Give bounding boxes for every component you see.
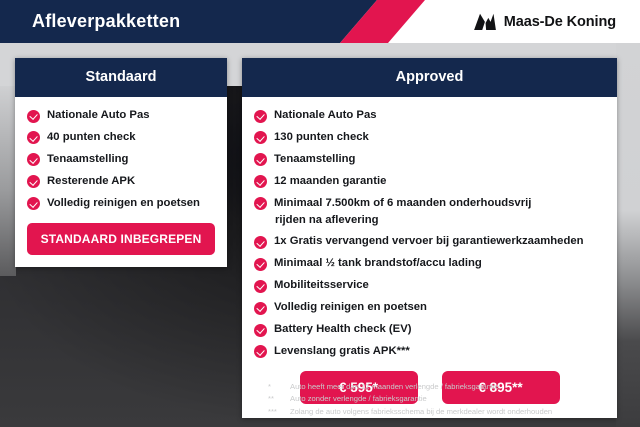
check-circle-icon — [27, 131, 40, 144]
list-item: Tenaamstelling — [254, 152, 605, 167]
check-circle-icon — [254, 110, 267, 123]
background-right-column — [616, 40, 640, 427]
check-circle-icon — [27, 197, 40, 210]
footnote-row: ** Auto zonder verlengde / fabrieksgaran… — [268, 393, 613, 405]
approved-feature-list: Nationale Auto Pas 130 punten check Tena… — [254, 108, 605, 359]
check-circle-icon — [27, 175, 40, 188]
check-circle-icon — [254, 345, 267, 358]
standaard-card: Standaard Nationale Auto Pas 40 punten c… — [15, 58, 227, 267]
list-item: Volledig reinigen en poetsen — [27, 196, 215, 211]
footnote-row: * Auto heeft meer dan 12 maanden verleng… — [268, 381, 613, 393]
list-item-continuation: rijden na aflevering — [275, 213, 605, 228]
standaard-feature-list: Nationale Auto Pas 40 punten check Tenaa… — [27, 108, 215, 211]
check-circle-icon — [254, 131, 267, 144]
check-circle-icon — [254, 280, 267, 293]
list-item: Minimaal ½ tank brandstof/accu lading — [254, 256, 605, 271]
list-item: 130 punten check — [254, 130, 605, 145]
list-item: Tenaamstelling — [27, 152, 215, 167]
page-title: Afleverpakketten — [32, 0, 180, 43]
footnote-row: *** Zolang de auto volgens fabrieksschem… — [268, 406, 613, 418]
list-item: 1x Gratis vervangend vervoer bij garanti… — [254, 234, 605, 249]
afleverpakketten-screen: Afleverpakketten Maas-De Koning Standaar… — [0, 0, 640, 427]
footnote-text: Zolang de auto volgens fabrieksschema bi… — [290, 406, 613, 418]
check-circle-icon — [254, 197, 267, 210]
approved-card-heading: Approved — [242, 58, 617, 97]
footnote-text: Auto zonder verlengde / fabrieksgarantie — [290, 393, 613, 405]
list-item: Minimaal 7.500km of 6 maanden onderhouds… — [254, 196, 605, 211]
list-item: Levenslang gratis APK*** — [254, 344, 605, 359]
list-item: Volledig reinigen en poetsen — [254, 300, 605, 315]
standaard-card-heading: Standaard — [15, 58, 227, 97]
footnote-marker: ** — [268, 393, 290, 405]
list-item: Mobiliteitsservice — [254, 278, 605, 293]
check-circle-icon — [254, 258, 267, 271]
check-circle-icon — [254, 175, 267, 188]
check-circle-icon — [254, 302, 267, 315]
footnote-marker: * — [268, 381, 290, 393]
list-item: 12 maanden garantie — [254, 174, 605, 189]
check-circle-icon — [27, 110, 40, 123]
page-header: Afleverpakketten Maas-De Koning — [0, 0, 640, 43]
check-circle-icon — [27, 153, 40, 166]
footnote-text: Auto heeft meer dan 12 maanden verlengde… — [290, 381, 613, 393]
check-circle-icon — [254, 236, 267, 249]
background-left-gradient — [0, 86, 16, 276]
check-circle-icon — [254, 153, 267, 166]
standaard-inbegrepen-button[interactable]: STANDAARD INBEGREPEN — [27, 223, 215, 255]
list-item: Nationale Auto Pas — [254, 108, 605, 123]
maas-de-koning-m-logo-icon — [473, 13, 497, 31]
list-item: 40 punten check — [27, 130, 215, 145]
standaard-card-body: Nationale Auto Pas 40 punten check Tenaa… — [15, 97, 227, 267]
check-circle-icon — [254, 324, 267, 337]
list-item: Resterende APK — [27, 174, 215, 189]
approved-card: Approved Nationale Auto Pas 130 punten c… — [242, 58, 617, 418]
footnote-marker: *** — [268, 406, 290, 418]
approved-card-body: Nationale Auto Pas 130 punten check Tena… — [242, 97, 617, 418]
brand-name: Maas-De Koning — [504, 14, 616, 30]
footnotes: * Auto heeft meer dan 12 maanden verleng… — [268, 381, 613, 418]
brand-lockup: Maas-De Koning — [473, 0, 616, 43]
list-item: Nationale Auto Pas — [27, 108, 215, 123]
list-item: Battery Health check (EV) — [254, 322, 605, 337]
